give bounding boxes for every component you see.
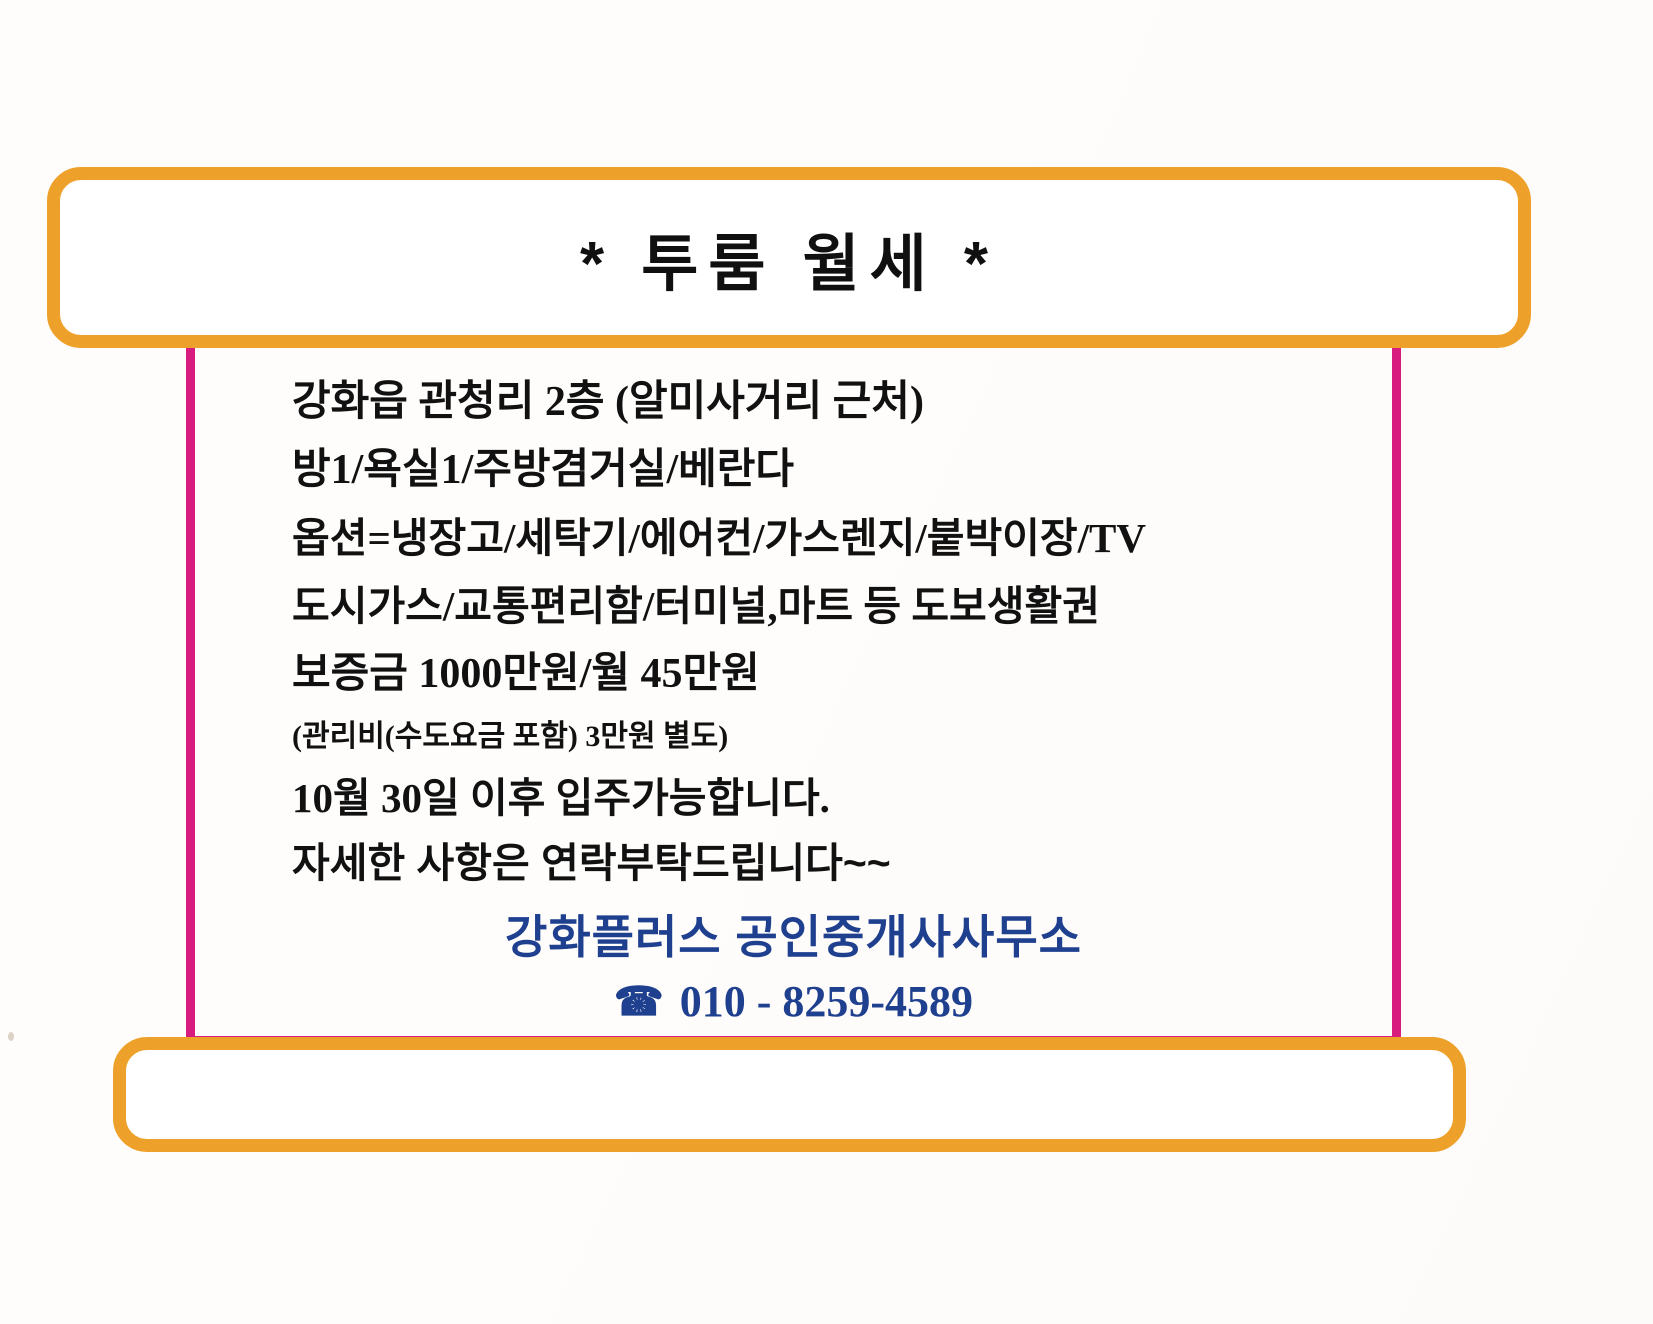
bottom-orange-banner (113, 1037, 1466, 1152)
listing-details: 강화읍 관청리 2층 (알미사거리 근처) 방1/욕실1/주방겸거실/베란다 옵… (292, 368, 1412, 896)
phone-number[interactable]: 010 - 8259-4589 (680, 969, 973, 1035)
detail-rooms: 방1/욕실1/주방겸거실/베란다 (292, 436, 1412, 504)
detail-location: 강화읍 관청리 2층 (알미사거리 근처) (292, 368, 1412, 436)
contact-block: 강화플러스 공인중개사사무소 ☎ 010 - 8259-4589 (186, 905, 1401, 1035)
scan-artifact-speck (8, 1032, 14, 1041)
detail-move-in-date: 10월 30일 이후 입주가능합니다. (292, 766, 1412, 830)
phone-row[interactable]: ☎ 010 - 8259-4589 (186, 969, 1401, 1035)
page-title: * 투룸 월세 * (47, 167, 1531, 348)
office-name: 강화플러스 공인중개사사무소 (186, 905, 1401, 969)
detail-price: 보증금 1000만원/월 45만원 (292, 640, 1412, 708)
telephone-icon: ☎ (614, 982, 664, 1022)
detail-amenities: 도시가스/교통편리함/터미널,마트 등 도보생활권 (292, 572, 1412, 640)
detail-maintenance-fee: (관리비(수도요금 포함) 3만원 별도) (292, 708, 1412, 766)
detail-options: 옵션=냉장고/세탁기/에어컨/가스렌지/붙박이장/TV (292, 504, 1412, 572)
detail-closing-note: 자세한 사항은 연락부탁드립니다~~ (292, 830, 1412, 896)
